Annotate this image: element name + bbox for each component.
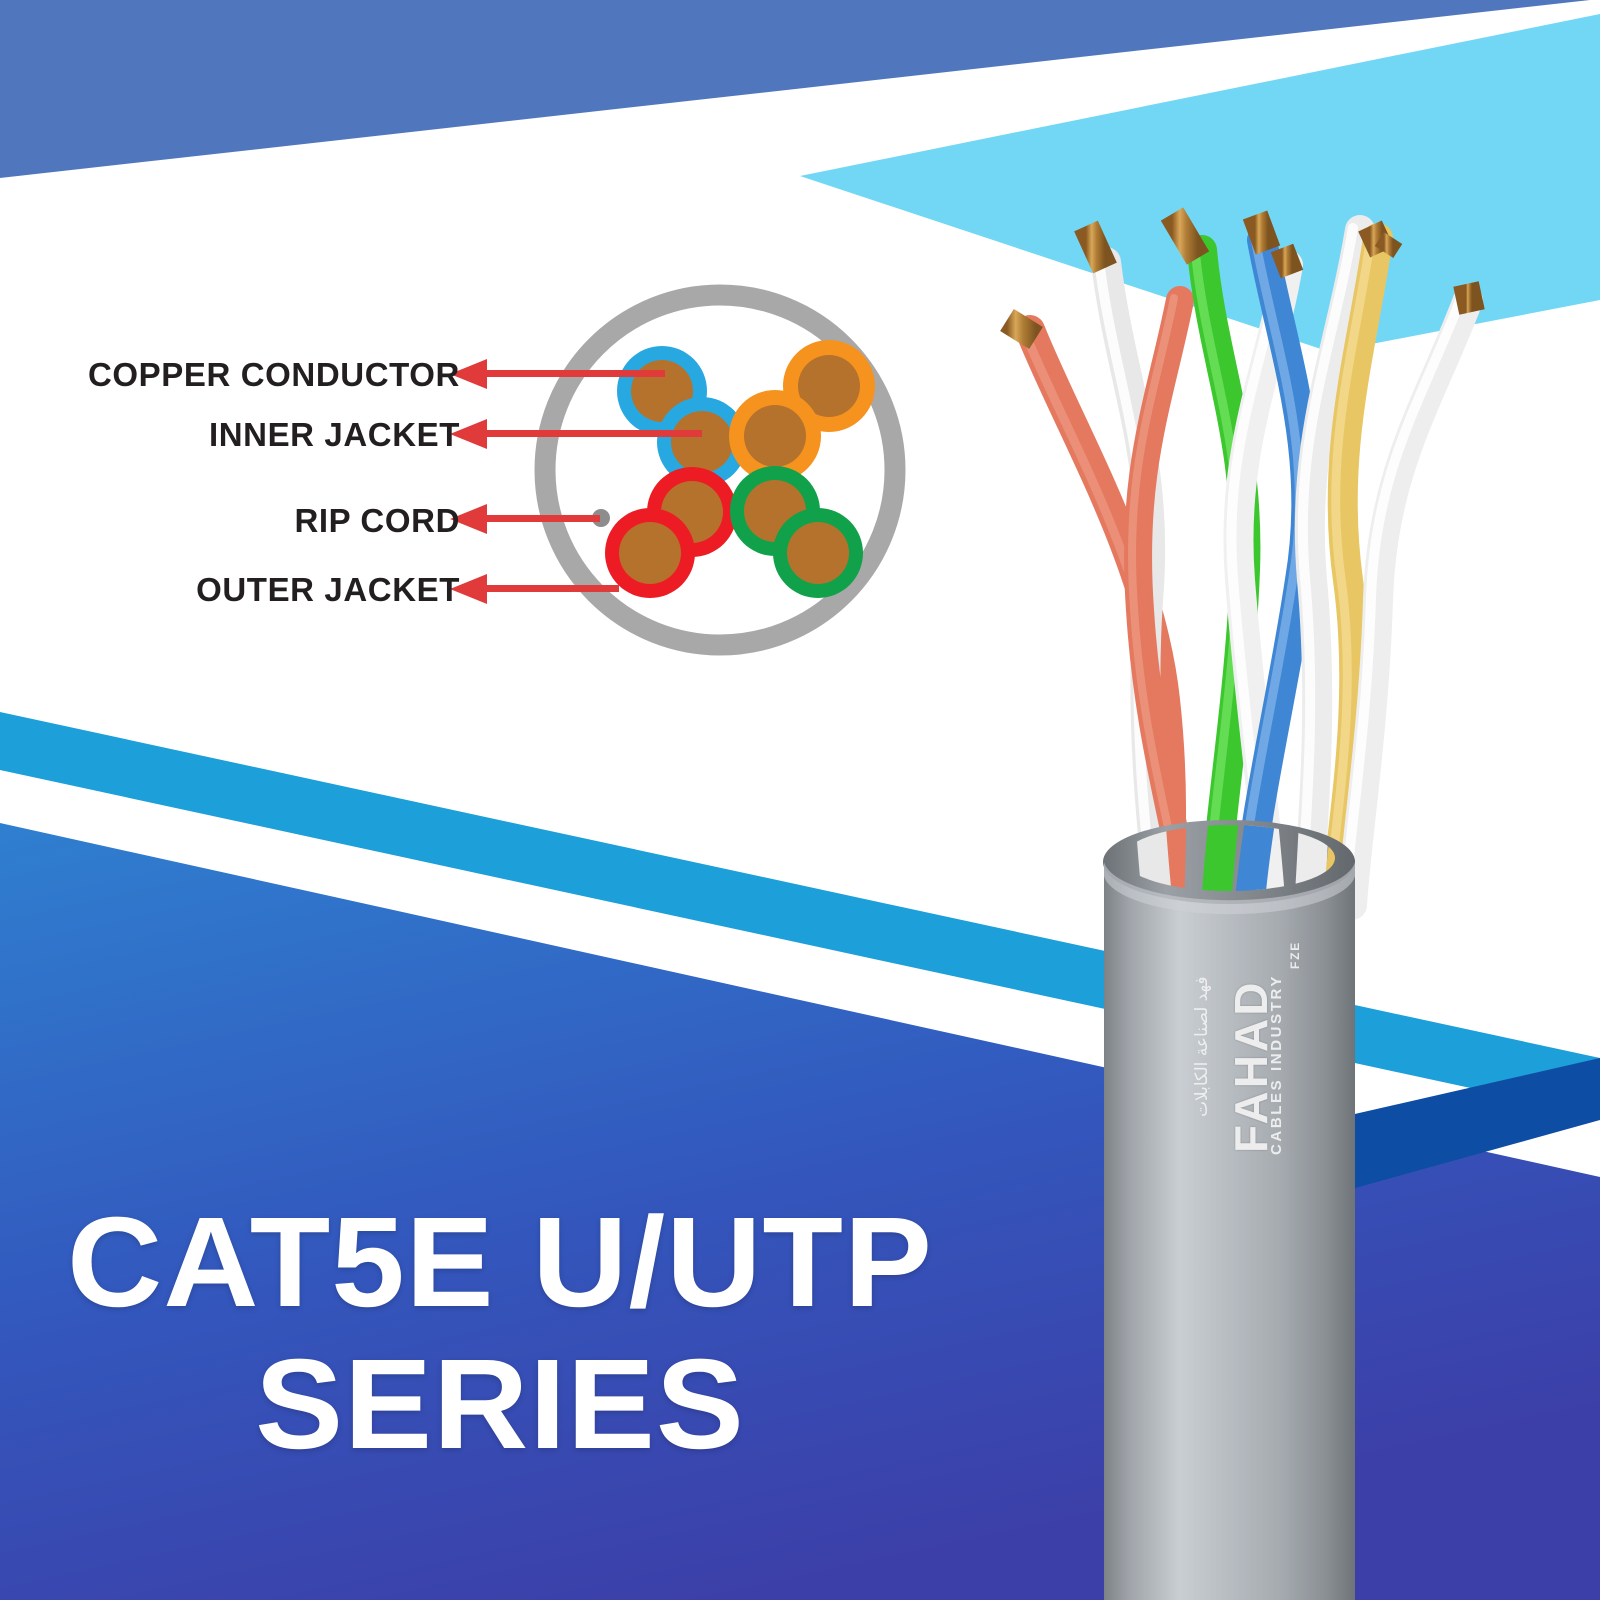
title-line-primary: CAT5E U/UTP (0, 1195, 1015, 1331)
callout-label-outer-jacket: OUTER JACKET (20, 573, 460, 606)
title-line-secondary: SERIES (0, 1337, 1015, 1473)
callout-label-rip-cord: RIP CORD (20, 504, 460, 537)
callout-label-copper-conductor: COPPER CONDUCTOR (20, 358, 460, 391)
callout-label-inner-jacket: INNER JACKET (20, 418, 460, 451)
poster-title: CAT5E U/UTP SERIES (0, 1195, 1000, 1472)
wires-inside-bore (1145, 570, 1354, 930)
poster-canvas: COPPER CONDUCTOR INNER JACKET RIP CORD O… (0, 0, 1600, 1600)
